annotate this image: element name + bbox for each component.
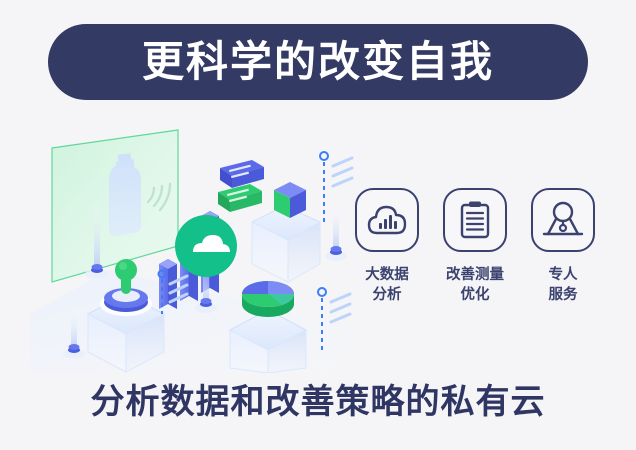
feature-label-line1: 大数据 [365,267,409,283]
feature-label-line2: 优化 [461,287,490,303]
feature-item-service[interactable]: 专人 服务 [526,188,600,305]
feature-label-line1: 专人 [549,267,578,283]
pie-chart-3d [242,281,294,317]
person-service-icon [531,188,595,252]
pin-marker-right [325,200,347,261]
feature-label-measurement: 改善测量 优化 [446,266,504,305]
tagline: 分析数据和改善策略的私有云 [0,382,636,423]
feature-label-service: 专人 服务 [549,266,578,305]
feature-item-big-data[interactable]: 大数据 分析 [350,188,424,305]
feature-list: 大数据 分析 改善测量 优化 [350,188,600,305]
poster-canvas: 更科学的改变自我 [0,0,636,450]
hero-illustration [30,118,360,373]
data-card-blue [220,160,264,188]
feature-label-line1: 改善测量 [446,267,504,283]
glass-pedestal-cube [252,206,320,282]
cloud-chart-icon [355,188,419,252]
data-card-green [218,184,262,212]
green-glass-panel [52,130,178,282]
page-title: 更科学的改变自我 [142,41,494,83]
feature-label-line2: 服务 [549,287,578,303]
feature-label-big-data: 大数据 分析 [365,266,409,305]
feature-item-measurement[interactable]: 改善测量 优化 [438,188,512,305]
header-banner: 更科学的改变自我 [48,24,588,100]
clipboard-icon [443,188,507,252]
feature-label-line2: 分析 [373,287,402,303]
isometric-scene [30,118,360,373]
